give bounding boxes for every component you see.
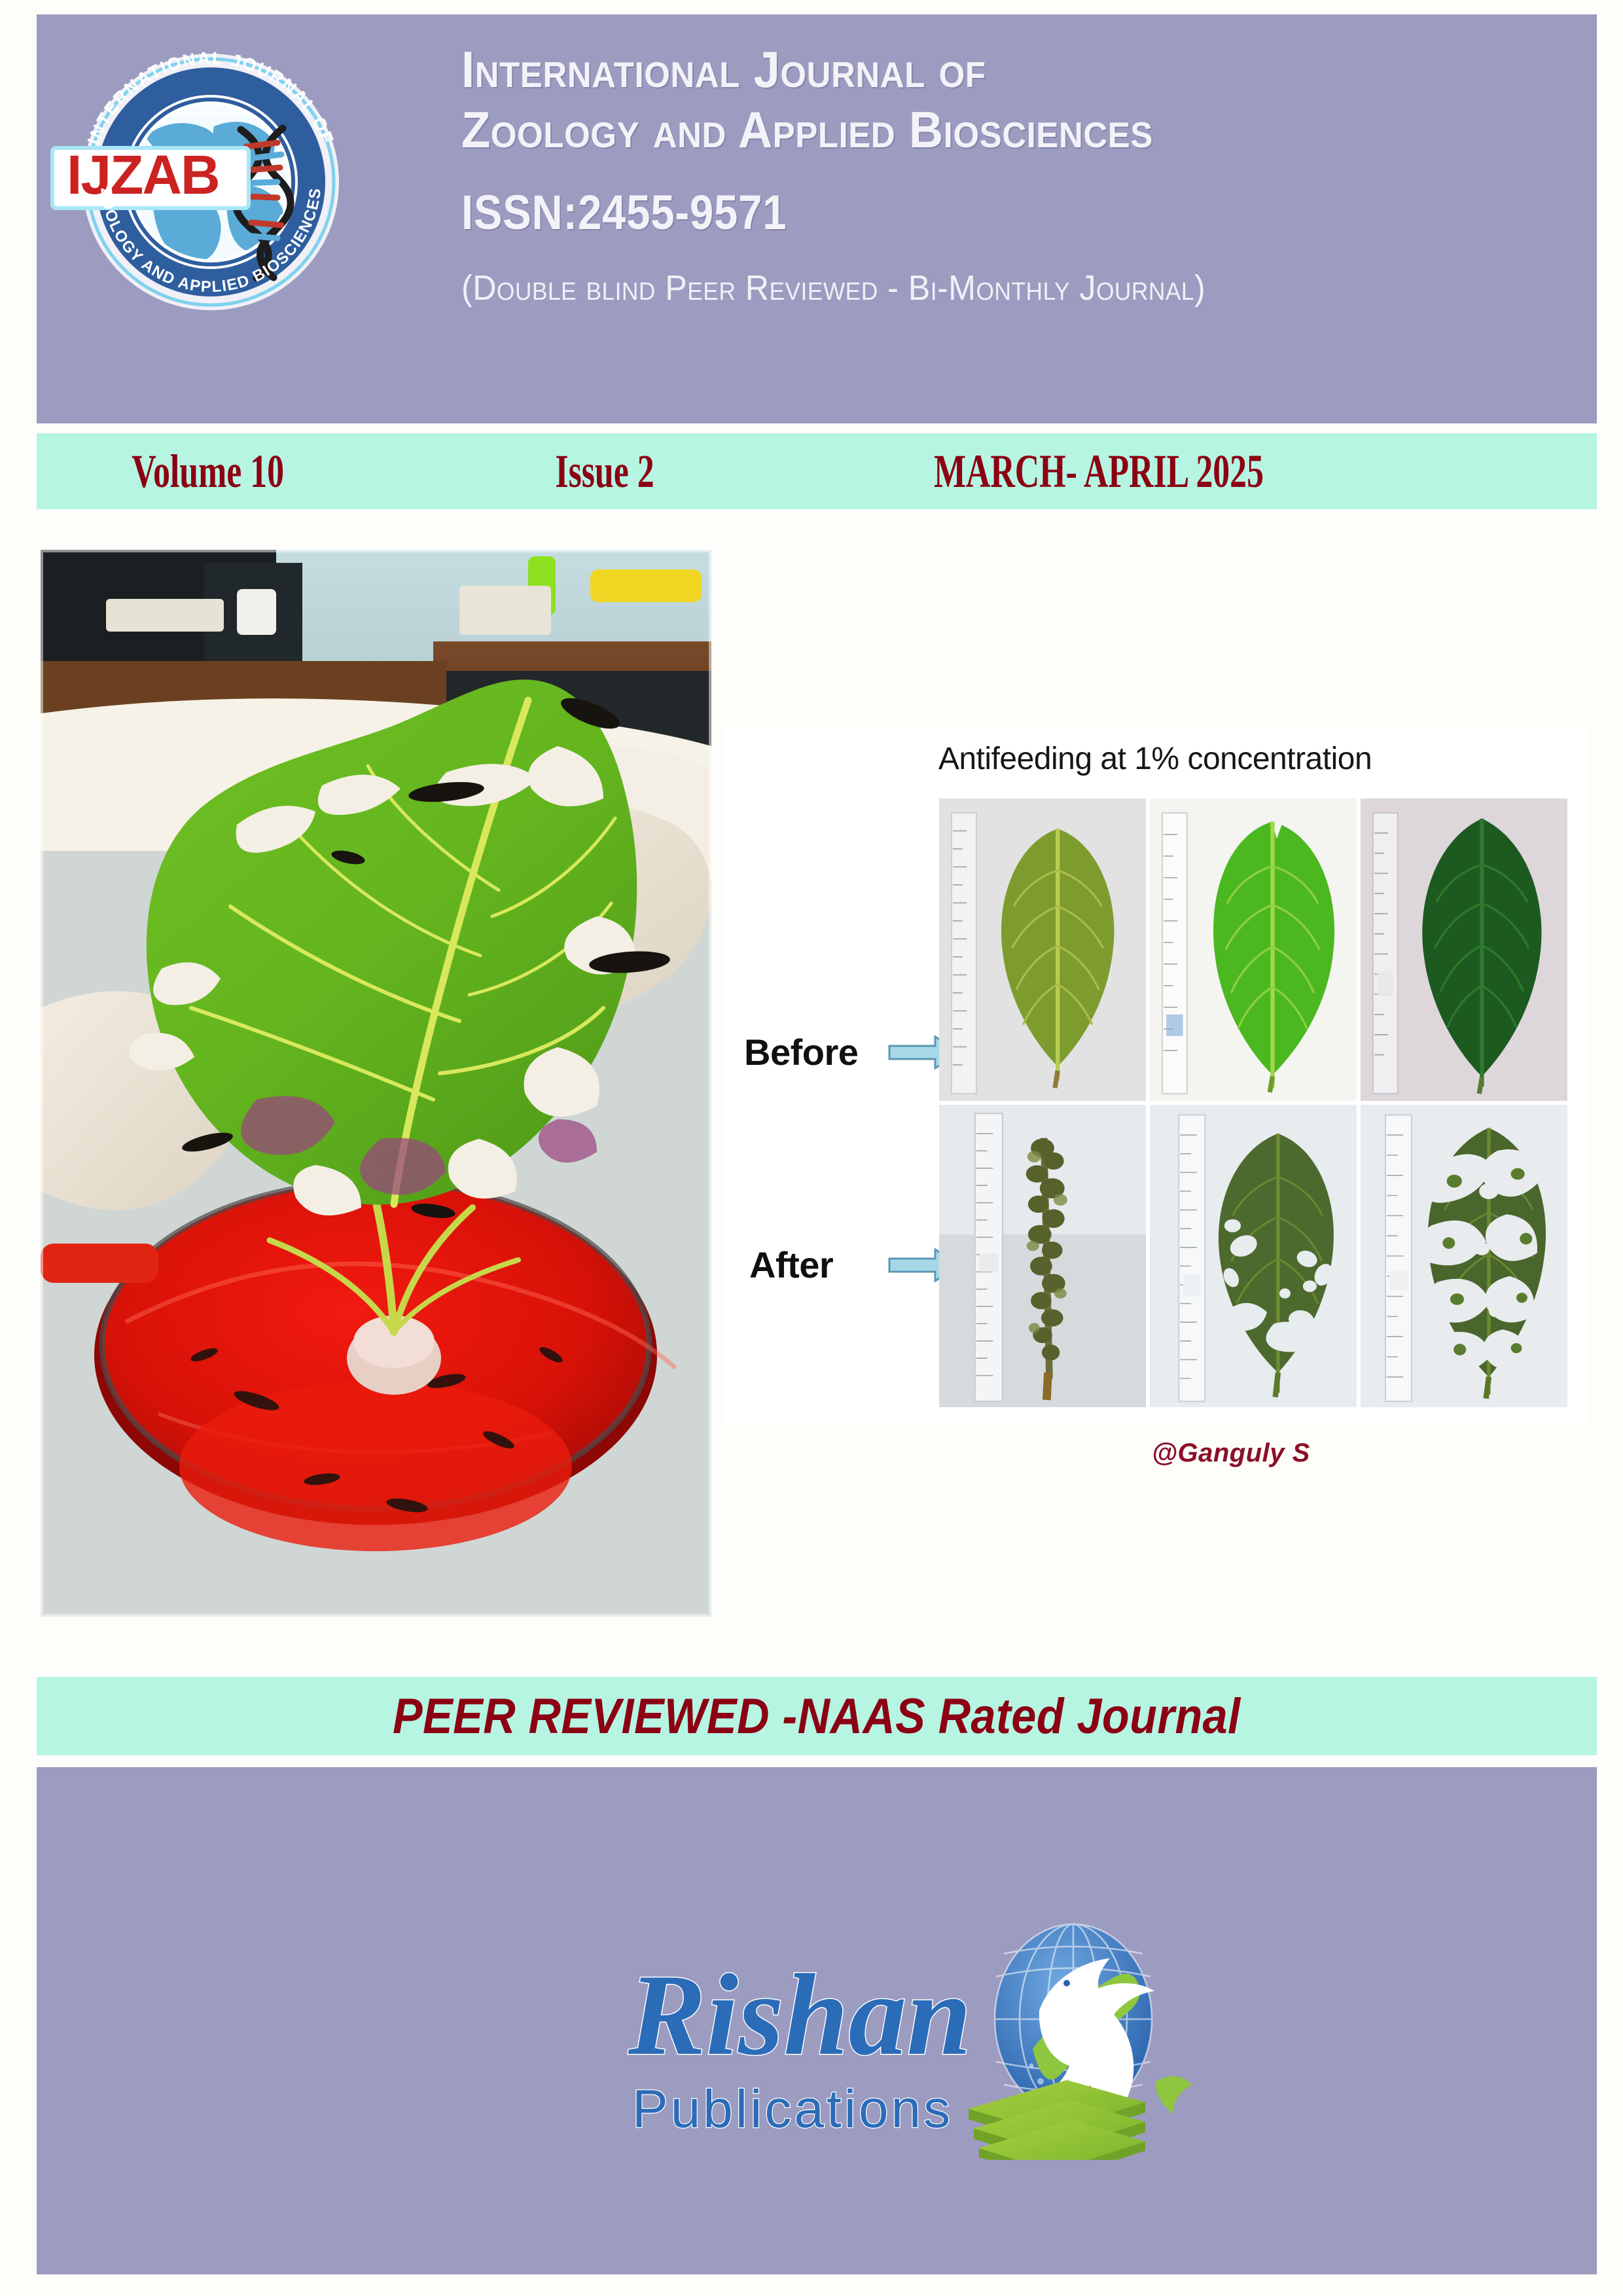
journal-logo: IJZAB INTERNATIONAL JOURNAL OF ZOOLOGY A… bbox=[47, 18, 374, 346]
ijzab-logo-svg: IJZAB INTERNATIONAL JOURNAL OF ZOOLOGY A… bbox=[47, 18, 374, 346]
leaf-cell-before-1 bbox=[939, 798, 1146, 1101]
figure-credit: @Ganguly S bbox=[1152, 1439, 1310, 1468]
journal-subtitle: (Double blind Peer Reviewed - Bi-Monthly… bbox=[461, 268, 1472, 308]
rishan-publications-logo: Rishan Publications bbox=[615, 1885, 1204, 2160]
leaf-cell-before-2 bbox=[1150, 798, 1357, 1101]
leaf-cell-after-3 bbox=[1361, 1105, 1567, 1407]
period-label: MARCH- APRIL 2025 bbox=[934, 444, 1264, 499]
leaf-cell-after-1 bbox=[939, 1105, 1146, 1407]
photo-red-strip bbox=[41, 1244, 158, 1283]
volume-label: Volume 10 bbox=[132, 444, 284, 499]
figure-antifeeding-panel: Antifeeding at 1% concentration Before A… bbox=[723, 726, 1587, 1427]
intact-leaf-bright-green bbox=[1150, 798, 1357, 1101]
leaf-cell-before-3 bbox=[1361, 798, 1567, 1101]
intact-leaf-dark-green bbox=[1361, 798, 1567, 1101]
journal-title-block: International Journal of Zoology and App… bbox=[461, 39, 1548, 308]
volume-issue-bar: Volume 10 Issue 2 MARCH- APRIL 2025 bbox=[37, 433, 1597, 509]
intact-leaf-olive-green bbox=[939, 798, 1146, 1101]
publisher-subtitle: Publications bbox=[632, 2079, 953, 2139]
fully-consumed-leaf-skeleton bbox=[939, 1105, 1146, 1407]
figure-title: Antifeeding at 1% concentration bbox=[723, 741, 1587, 777]
leaf-antifeedant-photo bbox=[41, 550, 711, 1617]
issn-text: ISSN:2455-9571 bbox=[461, 185, 1418, 240]
leaf-cell-after-2 bbox=[1150, 1105, 1357, 1407]
partially-eaten-leaf-margins bbox=[1150, 1105, 1357, 1407]
figure-row-label-before: Before bbox=[744, 1031, 858, 1073]
issue-label: Issue 2 bbox=[556, 444, 654, 499]
publisher-name: Rishan bbox=[628, 1950, 971, 2079]
figure-row-label-after: After bbox=[749, 1244, 833, 1286]
journal-title-line1: International Journal of bbox=[461, 41, 986, 98]
logo-acronym-text: IJZAB bbox=[67, 144, 219, 206]
heavily-eaten-leaf bbox=[1361, 1105, 1567, 1407]
journal-title: International Journal of Zoology and App… bbox=[461, 39, 1472, 160]
peer-reviewed-text: PEER REVIEWED -NAAS Rated Journal bbox=[393, 1688, 1241, 1745]
photo-yellow-object bbox=[590, 569, 702, 602]
peer-reviewed-banner: PEER REVIEWED -NAAS Rated Journal bbox=[37, 1677, 1597, 1755]
publisher-logo: Rishan Publications bbox=[615, 1885, 1204, 2160]
leaf-comparison-grid bbox=[939, 798, 1567, 1407]
journal-title-line2: Zoology and Applied Biosciences bbox=[461, 99, 1472, 160]
logo-acronym-banner: IJZAB bbox=[52, 144, 249, 208]
cover-photo-left bbox=[41, 550, 711, 1617]
